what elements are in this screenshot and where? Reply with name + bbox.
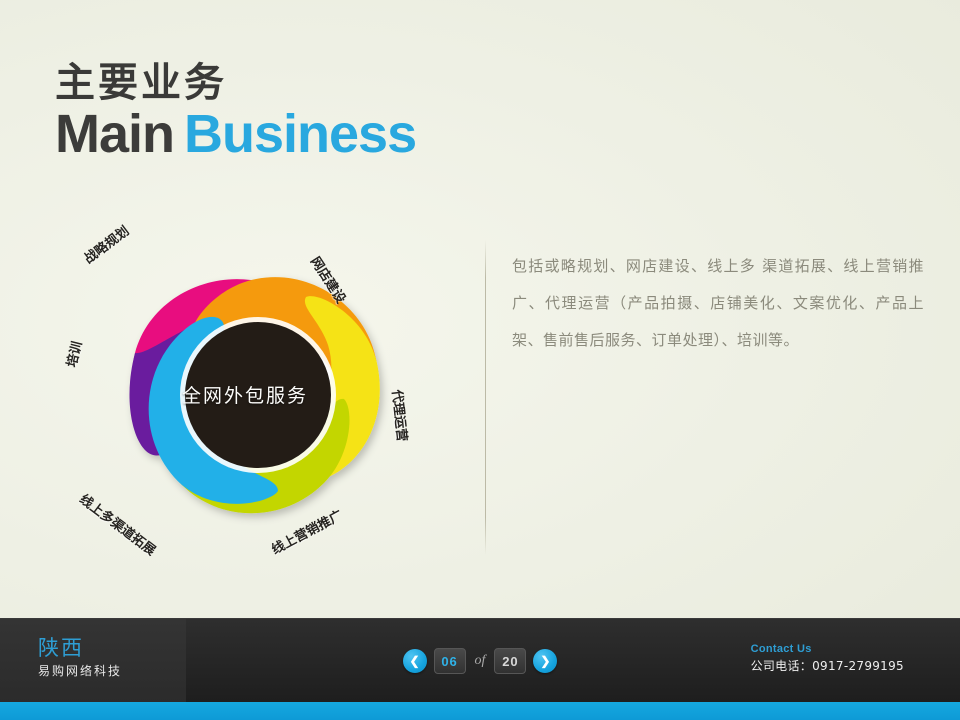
title-chinese: 主要业务: [55, 62, 416, 104]
chevron-right-icon[interactable]: ❯: [533, 649, 557, 673]
page-separator: of: [475, 653, 486, 669]
footer-accent-bar: [0, 702, 960, 720]
total-page-box: 20: [494, 648, 526, 674]
contact-block: Contact Us 公司电话：0917-2799195: [751, 643, 904, 674]
slide-canvas: 主要业务 MainBusiness 包括或略规划、网店建设、线上多 渠道拓展、线…: [0, 0, 960, 720]
contact-title: Contact Us: [751, 643, 904, 655]
page-title: 主要业务 MainBusiness: [55, 62, 416, 163]
vertical-divider: [485, 240, 486, 555]
current-page-number: 06: [441, 654, 457, 669]
contact-phone: 公司电话：0917-2799195: [751, 657, 904, 674]
current-page-box: 06: [434, 648, 466, 674]
title-english: MainBusiness: [55, 106, 416, 163]
diagram-center-label: 全网外包服务: [165, 381, 325, 408]
chevron-left-icon[interactable]: ❮: [403, 649, 427, 673]
body-paragraph: 包括或略规划、网店建设、线上多 渠道拓展、线上营销推广、代理运营（产品拍摄、店铺…: [512, 248, 924, 358]
title-english-accent: Business: [184, 104, 416, 164]
footer-bar: 陕西 易购网络科技 ❮ 06 of 20 ❯ Contact Us 公司电话：0…: [0, 618, 960, 702]
title-english-main: Main: [55, 104, 174, 164]
total-page-number: 20: [502, 654, 518, 669]
